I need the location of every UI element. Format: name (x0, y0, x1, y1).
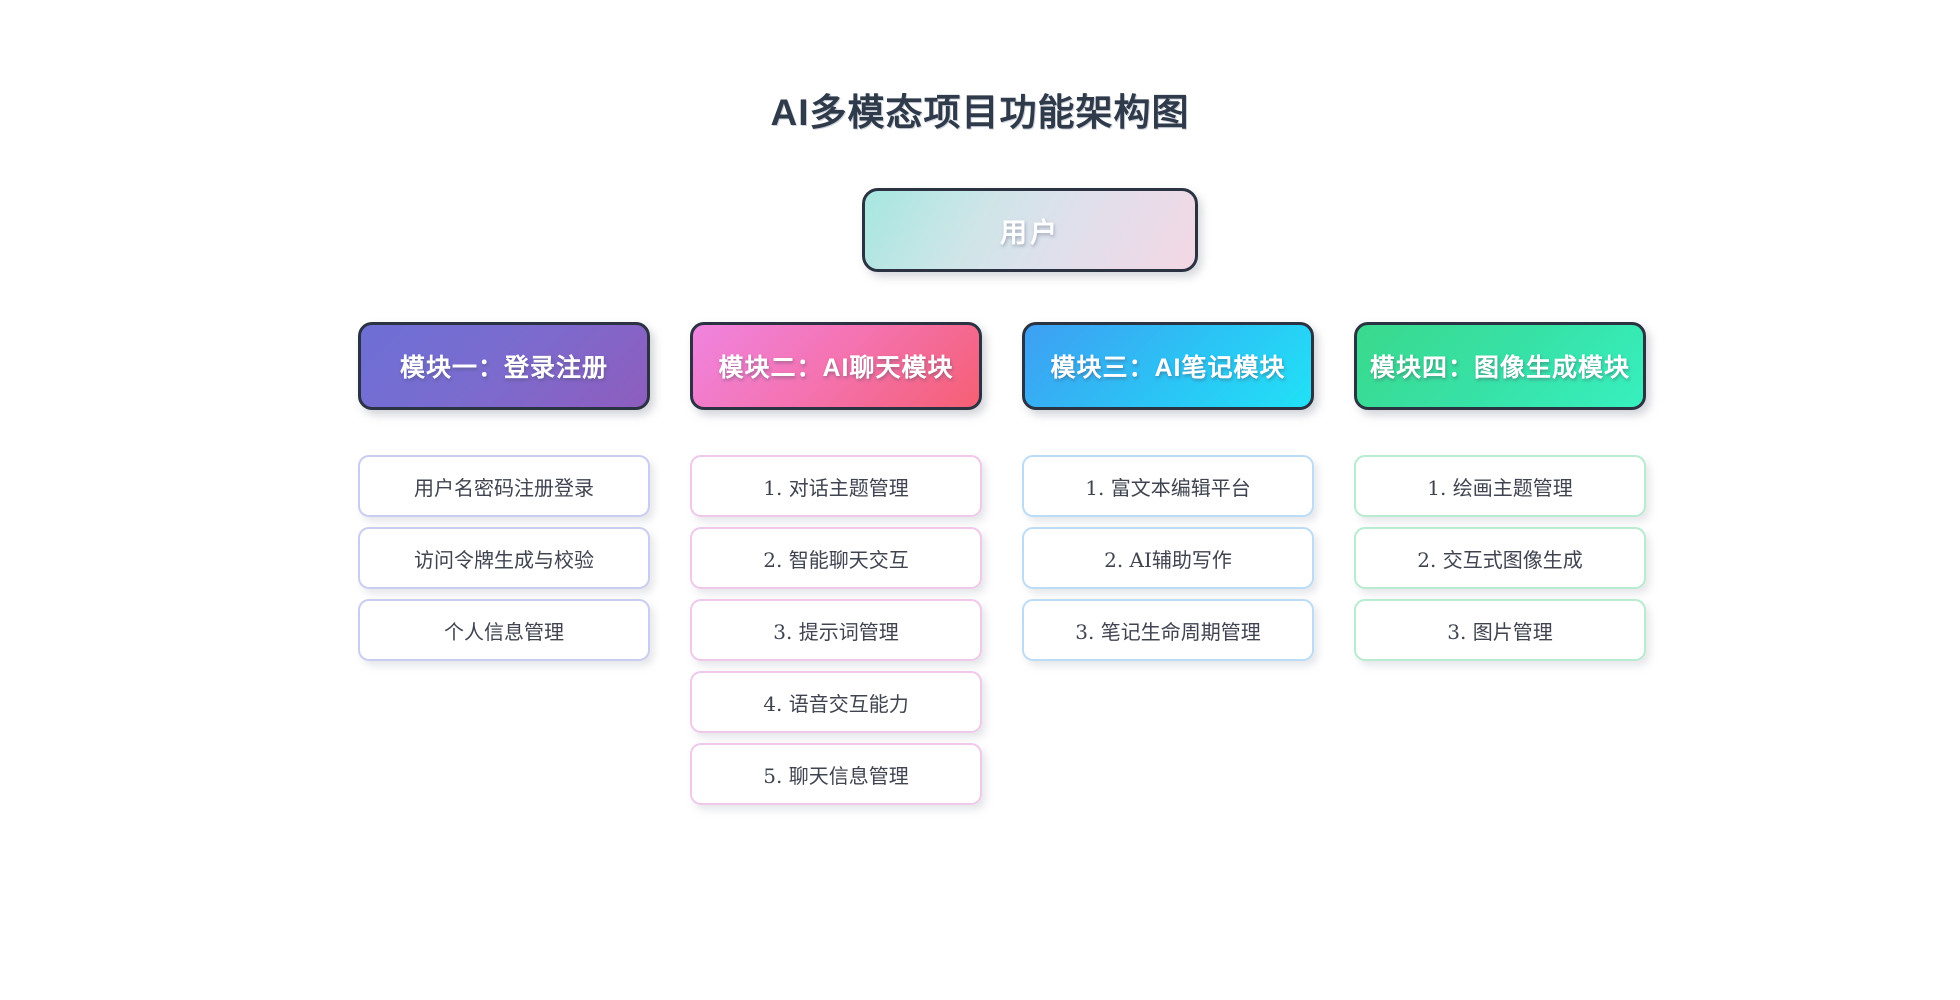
feature-card[interactable]: 3. 笔记生命周期管理 (1022, 599, 1314, 661)
feature-card[interactable]: 1. 对话主题管理 (690, 455, 982, 517)
module-header-4[interactable]: 模块四：图像生成模块 (1354, 322, 1646, 410)
feature-card-label: 1. 对话主题管理 (763, 472, 908, 501)
feature-card[interactable]: 个人信息管理 (358, 599, 650, 661)
feature-card-label: 用户名密码注册登录 (414, 472, 594, 501)
feature-card-label: 2. AI辅助写作 (1104, 544, 1232, 573)
module-column-3: 模块三：AI笔记模块1. 富文本编辑平台2. AI辅助写作3. 笔记生命周期管理 (1022, 322, 1314, 671)
feature-card-label: 1. 富文本编辑平台 (1085, 472, 1250, 501)
feature-card[interactable]: 2. 智能聊天交互 (690, 527, 982, 589)
module-header-1[interactable]: 模块一：登录注册 (358, 322, 650, 410)
feature-card-label: 5. 聊天信息管理 (763, 760, 908, 789)
module-title-label: 模块四：图像生成模块 (1370, 348, 1630, 384)
feature-card-label: 访问令牌生成与校验 (414, 544, 594, 573)
module-item-list-2: 1. 对话主题管理2. 智能聊天交互3. 提示词管理4. 语音交互能力5. 聊天… (690, 455, 982, 805)
feature-card[interactable]: 4. 语音交互能力 (690, 671, 982, 733)
module-header-3[interactable]: 模块三：AI笔记模块 (1022, 322, 1314, 410)
module-header-2[interactable]: 模块二：AI聊天模块 (690, 322, 982, 410)
feature-card-label: 2. 交互式图像生成 (1417, 544, 1582, 573)
module-item-list-4: 1. 绘画主题管理2. 交互式图像生成3. 图片管理 (1354, 455, 1646, 661)
module-columns: 模块一：登录注册用户名密码注册登录访问令牌生成与校验个人信息管理模块二：AI聊天… (330, 322, 1660, 942)
feature-card-label: 4. 语音交互能力 (763, 688, 908, 717)
page-title: AI多模态项目功能架构图 (0, 82, 1960, 136)
module-item-list-3: 1. 富文本编辑平台2. AI辅助写作3. 笔记生命周期管理 (1022, 455, 1314, 661)
feature-card-label: 3. 图片管理 (1447, 616, 1552, 645)
module-title-label: 模块二：AI聊天模块 (718, 348, 953, 384)
feature-card[interactable]: 用户名密码注册登录 (358, 455, 650, 517)
module-column-1: 模块一：登录注册用户名密码注册登录访问令牌生成与校验个人信息管理 (358, 322, 650, 671)
module-column-2: 模块二：AI聊天模块1. 对话主题管理2. 智能聊天交互3. 提示词管理4. 语… (690, 322, 982, 815)
module-title-label: 模块三：AI笔记模块 (1050, 348, 1285, 384)
module-column-4: 模块四：图像生成模块1. 绘画主题管理2. 交互式图像生成3. 图片管理 (1354, 322, 1646, 671)
module-item-list-1: 用户名密码注册登录访问令牌生成与校验个人信息管理 (358, 455, 650, 661)
feature-card-label: 1. 绘画主题管理 (1427, 472, 1572, 501)
feature-card[interactable]: 访问令牌生成与校验 (358, 527, 650, 589)
feature-card[interactable]: 1. 绘画主题管理 (1354, 455, 1646, 517)
module-title-label: 模块一：登录注册 (400, 348, 608, 384)
feature-card-label: 个人信息管理 (444, 616, 564, 645)
feature-card-label: 2. 智能聊天交互 (763, 544, 908, 573)
feature-card[interactable]: 1. 富文本编辑平台 (1022, 455, 1314, 517)
root-node-user: 用户 (862, 188, 1198, 272)
feature-card-label: 3. 提示词管理 (773, 616, 898, 645)
feature-card[interactable]: 2. AI辅助写作 (1022, 527, 1314, 589)
feature-card[interactable]: 3. 图片管理 (1354, 599, 1646, 661)
feature-card[interactable]: 5. 聊天信息管理 (690, 743, 982, 805)
feature-card[interactable]: 3. 提示词管理 (690, 599, 982, 661)
root-node-label: 用户 (1000, 211, 1060, 250)
feature-card-label: 3. 笔记生命周期管理 (1075, 616, 1260, 645)
feature-card[interactable]: 2. 交互式图像生成 (1354, 527, 1646, 589)
